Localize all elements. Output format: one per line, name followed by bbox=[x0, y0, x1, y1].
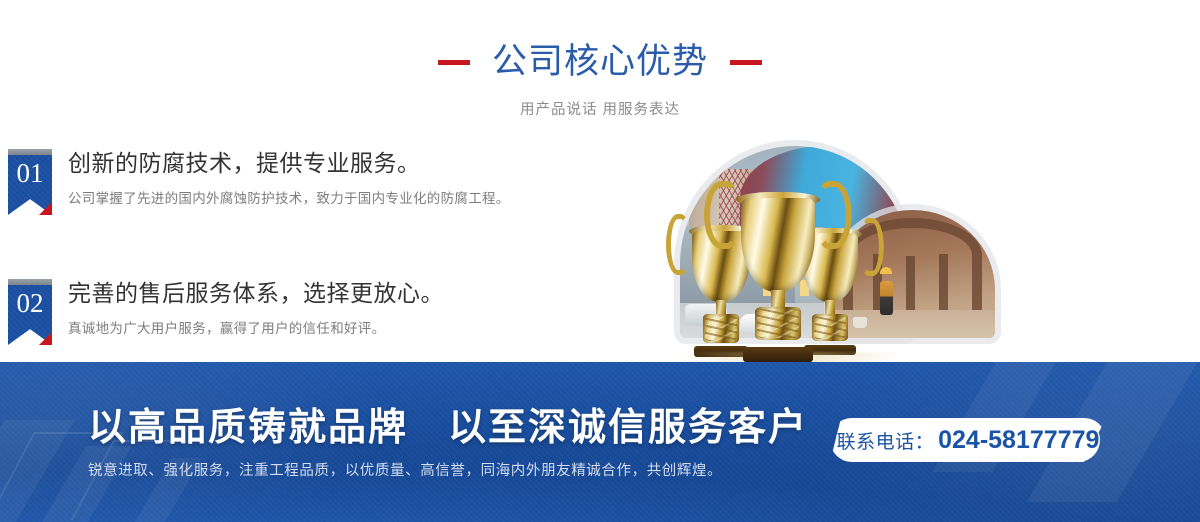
artwork-cluster bbox=[640, 128, 1200, 368]
trophy-handle-right bbox=[861, 218, 884, 276]
banner-slogan-sub: 锐意进取、强化服务，注重工程品质，以优质量、高信誉，同海内外朋友精诚合作，共创辉… bbox=[88, 460, 722, 482]
badge-number: 02 bbox=[8, 288, 52, 318]
ribbon-cap bbox=[8, 279, 52, 285]
list-item[interactable]: 02 完善的售后服务体系，选择更放心。 真诚地为广大用户服务，赢得了用户的信任和… bbox=[0, 276, 640, 376]
phone-number[interactable]: 024-58177779 bbox=[938, 426, 1099, 455]
trophy-base bbox=[743, 347, 813, 362]
section-subtitle: 用产品说话 用服务表达 bbox=[0, 98, 1200, 119]
trophy-center bbox=[720, 156, 836, 368]
three-gold-trophies bbox=[668, 138, 908, 370]
banner-slogan: 以高品质铸就品牌 以至深诚信服务客户 bbox=[88, 405, 808, 451]
promo-section: 公司核心优势 用产品说话 用服务表达 01 创新的防腐技术，提供专业服务。 公司… bbox=[0, 0, 1200, 522]
feature-title: 创新的防腐技术，提供专业服务。 bbox=[68, 146, 628, 180]
contact-phone-pill[interactable]: 联系电话： 024-58177779 bbox=[830, 418, 1106, 462]
ribbon-badge-01: 01 bbox=[8, 149, 52, 215]
feature-text-02: 完善的售后服务体系，选择更放心。 真诚地为广大用户服务，赢得了用户的信任和好评。 bbox=[68, 276, 628, 339]
phone-label: 联系电话： bbox=[837, 427, 935, 454]
feature-description: 真诚地为广大用户服务，赢得了用户的信任和好评。 bbox=[68, 319, 628, 339]
trophy-handle-left bbox=[704, 181, 739, 249]
list-item[interactable]: 01 创新的防腐技术，提供专业服务。 公司掌握了先进的国内外腐蚀防护技术，致力于… bbox=[0, 146, 640, 246]
badge-number: 01 bbox=[8, 158, 52, 188]
phone-text: 联系电话： 024-58177779 bbox=[830, 418, 1106, 462]
dash-left-icon bbox=[438, 60, 470, 65]
trophy-handle-right bbox=[817, 181, 852, 249]
trophy-handle-left bbox=[666, 214, 689, 275]
feature-description: 公司掌握了先进的国内外腐蚀防护技术，致力于国内专业化的防腐工程。 bbox=[68, 189, 628, 209]
feature-list: 01 创新的防腐技术，提供专业服务。 公司掌握了先进的国内外腐蚀防护技术，致力于… bbox=[0, 146, 640, 376]
trophy-cup bbox=[741, 198, 815, 291]
section-heading: 公司核心优势 用产品说话 用服务表达 bbox=[0, 40, 1200, 119]
heading-row: 公司核心优势 bbox=[0, 40, 1200, 84]
page-title: 公司核心优势 bbox=[492, 40, 708, 84]
ribbon-cap bbox=[8, 149, 52, 155]
feature-text-01: 创新的防腐技术，提供专业服务。 公司掌握了先进的国内外腐蚀防护技术，致力于国内专… bbox=[68, 146, 628, 209]
feature-title: 完善的售后服务体系，选择更放心。 bbox=[68, 276, 628, 310]
trophy-pedestal bbox=[755, 307, 801, 341]
ribbon-badge-02: 02 bbox=[8, 279, 52, 345]
dash-right-icon bbox=[730, 60, 762, 65]
